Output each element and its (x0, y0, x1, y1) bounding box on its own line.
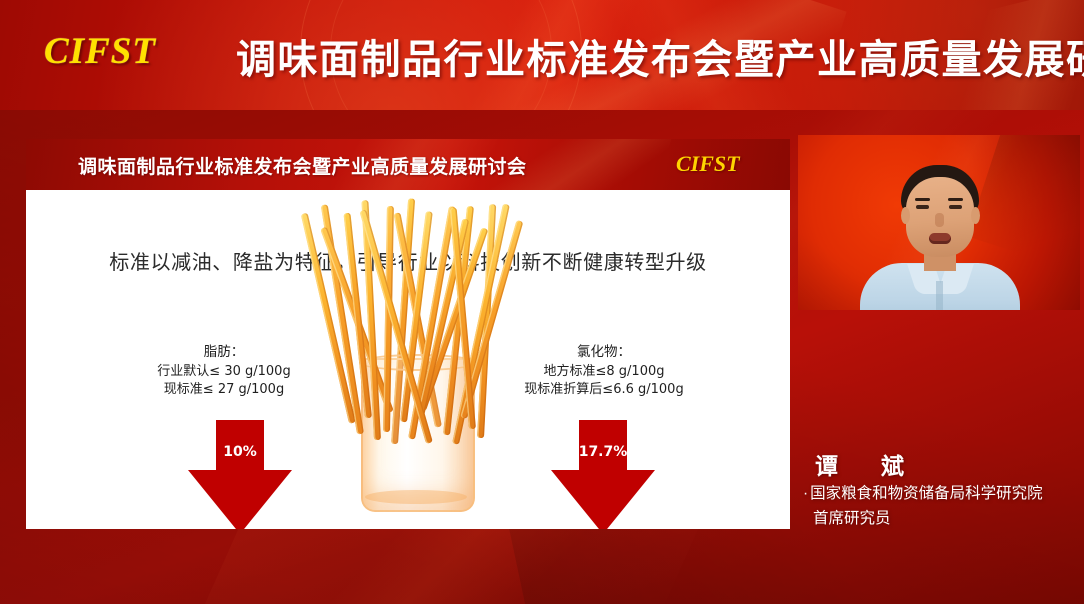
slide-header-bar: 调味面制品行业标准发布会暨产业高质量发展研讨会 CIFST (26, 139, 790, 190)
speaker-eye-left (916, 205, 929, 209)
bullet-icon: · (803, 485, 808, 502)
speaker-shirt-placket (936, 281, 943, 310)
glass-jar-base (365, 490, 467, 504)
speaker-ear-right (971, 207, 980, 224)
affiliation-text-1: 国家粮食和物资储备局科学研究院 (810, 485, 1043, 502)
slide-cifst-logo: CIFST (676, 151, 740, 177)
stat-fat-line1: 行业默认≤ 30 g/100g (114, 363, 334, 382)
speaker-eyebrow-left (915, 198, 930, 201)
speaker-portrait (854, 165, 1024, 310)
chloride-reduction-value: 17.7% (551, 444, 655, 460)
down-arrow-icon-chloride: 17.7% (551, 420, 655, 529)
speaker-affiliation-line2: 首席研究员 (803, 507, 1073, 532)
slide-header-title: 调味面制品行业标准发布会暨产业高质量发展研讨会 (78, 152, 527, 179)
stat-block-chloride: 氯化物： 地方标准≤8 g/100g 现标准折算后≤6.6 g/100g (476, 343, 732, 400)
speaker-nose (935, 213, 944, 227)
speaker-affiliation: ·国家粮食和物资储备局科学研究院 首席研究员 (803, 482, 1073, 532)
snack-sticks (331, 198, 501, 448)
down-arrow-icon-fat: 10% (188, 420, 292, 529)
speaker-mouth (929, 233, 951, 244)
stat-block-fat: 脂肪： 行业默认≤ 30 g/100g 现标准≤ 27 g/100g (114, 343, 334, 400)
stat-chloride-line2: 现标准折算后≤6.6 g/100g (476, 381, 732, 400)
speaker-eyebrow-right (948, 198, 963, 201)
stat-chloride-line1: 地方标准≤8 g/100g (476, 363, 732, 382)
speaker-eye-right (949, 205, 962, 209)
stat-chloride-title: 氯化物： (476, 343, 732, 363)
speaker-video-feed[interactable] (798, 135, 1080, 310)
event-banner: CIFST 调味面制品行业标准发布会暨产业高质量发展研讨会 (0, 0, 1084, 110)
broadcast-screen: CIFST 调味面制品行业标准发布会暨产业高质量发展研讨会 调味面制品行业标准发… (0, 0, 1084, 604)
slide-content: 标准以减油、降盐为特征，引导行业以科技创新不断健康转型升级 脂肪： 行业默认≤ … (26, 190, 790, 529)
snack-sticks-in-glass-jar-icon (331, 198, 501, 528)
speaker-affiliation-line1: ·国家粮食和物资储备局科学研究院 (803, 482, 1073, 507)
presentation-slide[interactable]: 调味面制品行业标准发布会暨产业高质量发展研讨会 CIFST 标准以减油、降盐为特… (26, 139, 790, 529)
speaker-ear-left (901, 207, 910, 224)
fat-reduction-value: 10% (188, 444, 292, 460)
stat-fat-line2: 现标准≤ 27 g/100g (114, 381, 334, 400)
event-title: 调味面制品行业标准发布会暨产业高质量发展研讨会 (236, 27, 1084, 85)
stat-fat-title: 脂肪： (114, 343, 334, 363)
speaker-name: 谭 斌 (815, 447, 914, 481)
cifst-logo: CIFST (44, 30, 156, 73)
arrow-head (188, 470, 292, 529)
arrow-head (551, 470, 655, 529)
